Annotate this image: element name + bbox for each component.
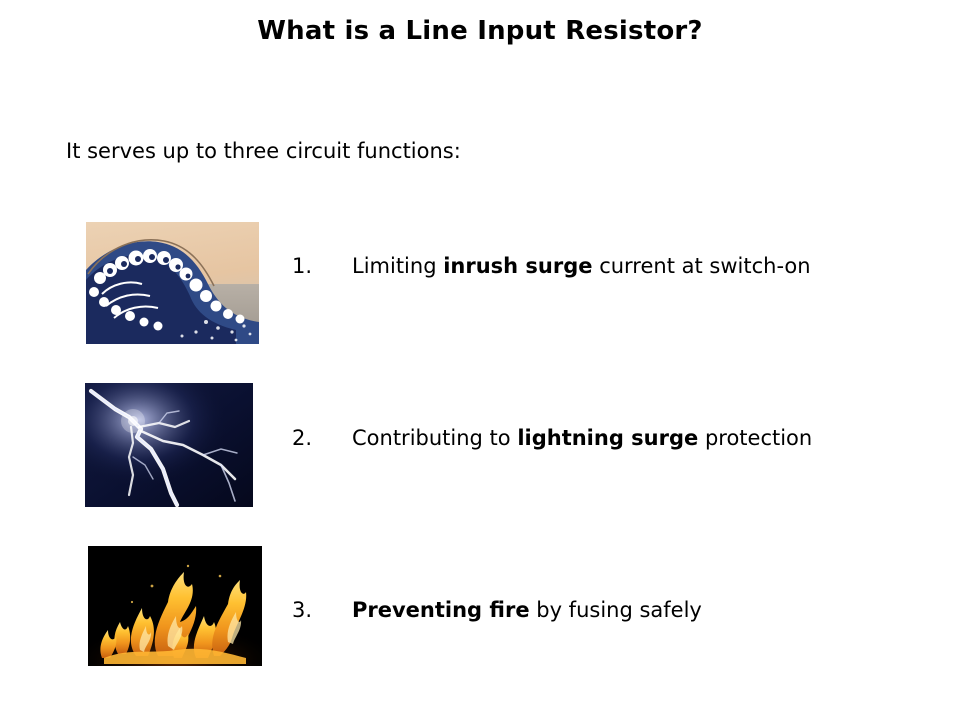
list-item: 2. Contributing to lightning surge prote… [292, 426, 812, 456]
slide-canvas: What is a Line Input Resistor? It serves… [0, 0, 960, 720]
item-text-before: Limiting [352, 254, 443, 278]
item-text-before: Contributing to [352, 426, 517, 450]
list-item: 3. Preventing fire by fusing safely [292, 598, 702, 628]
fire-flames-thumbnail [88, 546, 262, 666]
great-wave-thumbnail [86, 222, 259, 344]
list-item-number: 3. [292, 598, 352, 622]
item-text-after: by fusing safely [530, 598, 702, 622]
item-text-after: current at switch-on [593, 254, 811, 278]
page-title: What is a Line Input Resistor? [0, 16, 960, 46]
list-item-text: Contributing to lightning surge protecti… [352, 426, 812, 450]
great-wave-image [86, 222, 259, 344]
list-item-number: 1. [292, 254, 352, 278]
item-text-bold: inrush surge [443, 254, 592, 278]
fire-flames-image [88, 546, 262, 666]
item-text-after: protection [698, 426, 812, 450]
list-item: 1. Limiting inrush surge current at swit… [292, 254, 811, 284]
lightning-bolt-thumbnail [85, 383, 253, 507]
lightning-bolt-image [85, 383, 253, 507]
list-item-text: Limiting inrush surge current at switch-… [352, 254, 811, 278]
list-item-text: Preventing fire by fusing safely [352, 598, 702, 622]
item-text-bold: lightning surge [517, 426, 698, 450]
intro-text: It serves up to three circuit functions: [66, 139, 461, 163]
item-text-bold: Preventing fire [352, 598, 530, 622]
list-item-number: 2. [292, 426, 352, 450]
